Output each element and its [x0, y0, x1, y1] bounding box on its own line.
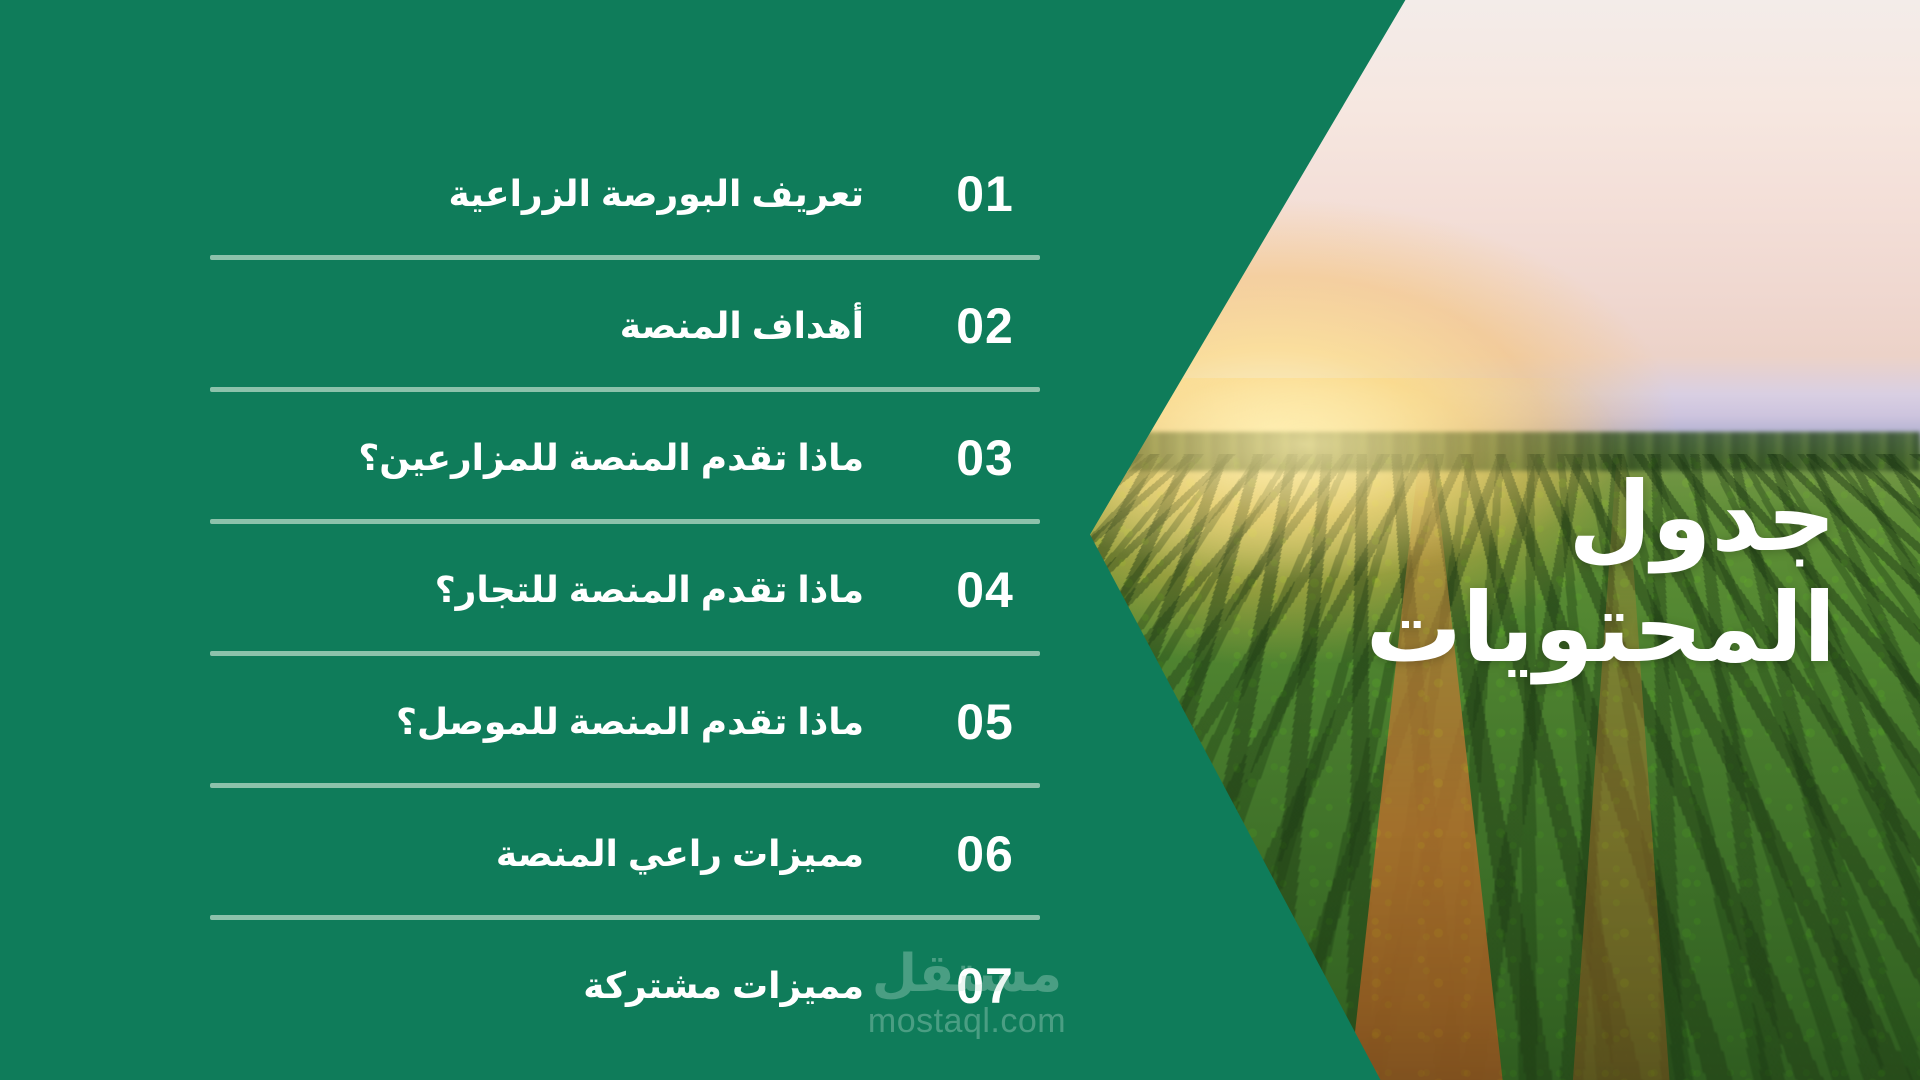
toc-item-01[interactable]: 01 تعريف البورصة الزراعية [0, 128, 1070, 260]
page-title: جدول المحتويات [1276, 462, 1836, 685]
page-title-line-2: المحتويات [1276, 573, 1836, 684]
toc-label: أهداف المنصة [0, 305, 900, 347]
toc-label: ماذا تقدم المنصة للتجار؟ [0, 569, 900, 611]
toc-label: مميزات راعي المنصة [0, 833, 900, 875]
toc-number: 07 [900, 957, 1070, 1015]
toc-item-07[interactable]: 07 مميزات مشتركة [0, 920, 1070, 1052]
toc-label: تعريف البورصة الزراعية [0, 173, 900, 215]
page-title-line-1: جدول [1276, 462, 1836, 573]
presentation-slide: جدول المحتويات 01 تعريف البورصة الزراعية… [0, 0, 1920, 1080]
toc-number: 03 [900, 429, 1070, 487]
toc-item-06[interactable]: 06 مميزات راعي المنصة [0, 788, 1070, 920]
toc-number: 05 [900, 693, 1070, 751]
toc-label: ماذا تقدم المنصة للمزارعين؟ [0, 437, 900, 479]
toc-number: 04 [900, 561, 1070, 619]
toc-number: 06 [900, 825, 1070, 883]
toc-item-04[interactable]: 04 ماذا تقدم المنصة للتجار؟ [0, 524, 1070, 656]
toc-item-03[interactable]: 03 ماذا تقدم المنصة للمزارعين؟ [0, 392, 1070, 524]
table-of-contents-list: 01 تعريف البورصة الزراعية 02 أهداف المنص… [0, 0, 1070, 1080]
toc-number: 02 [900, 297, 1070, 355]
toc-number: 01 [900, 165, 1070, 223]
toc-label: ماذا تقدم المنصة للموصل؟ [0, 701, 900, 743]
toc-item-05[interactable]: 05 ماذا تقدم المنصة للموصل؟ [0, 656, 1070, 788]
toc-item-02[interactable]: 02 أهداف المنصة [0, 260, 1070, 392]
toc-label: مميزات مشتركة [0, 965, 900, 1007]
